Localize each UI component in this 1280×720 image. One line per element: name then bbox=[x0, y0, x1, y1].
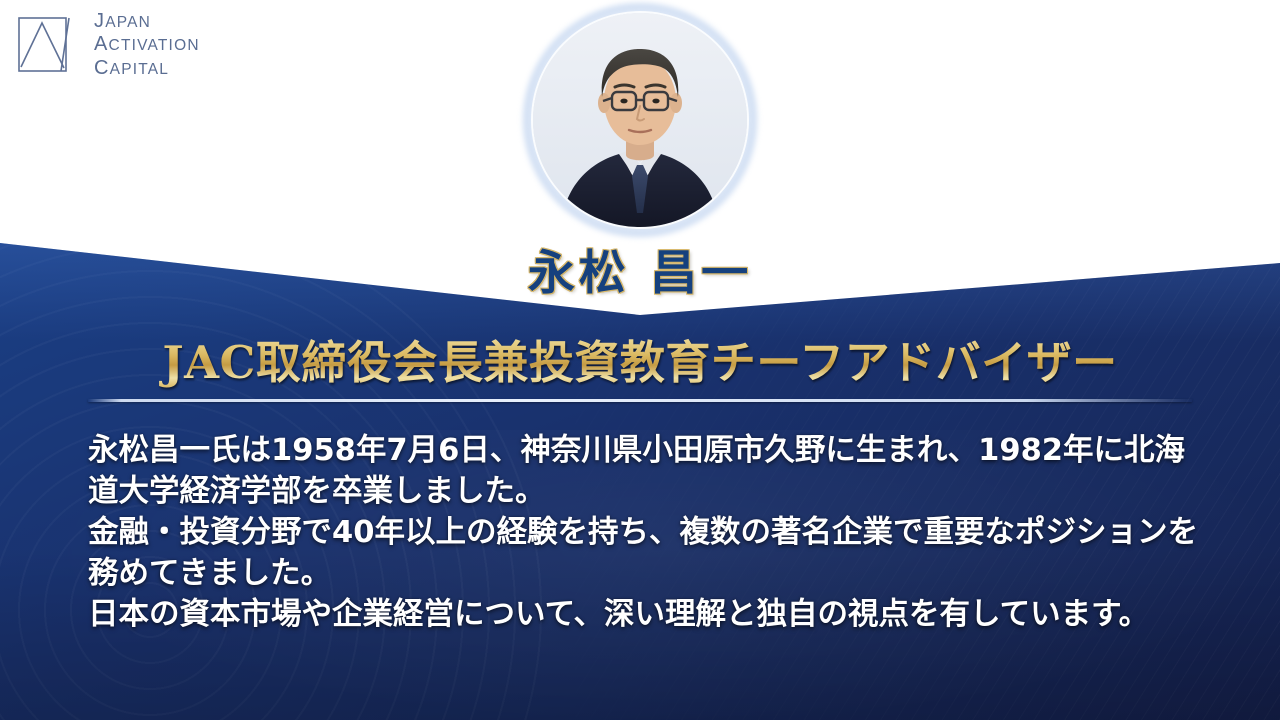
bio-paragraph: 日本の資本市場や企業経営について、深い理解と独自の視点を有しています。 bbox=[88, 594, 1198, 635]
person-name: 永松 昌一 bbox=[0, 234, 1280, 303]
slide-root: JAPAN ACTIVATION CAPITAL bbox=[0, 0, 1280, 720]
portrait-disc bbox=[533, 13, 747, 227]
portrait bbox=[533, 13, 747, 227]
brand-line-2: ACTIVATION bbox=[94, 33, 200, 55]
brand-line-3: CAPITAL bbox=[94, 57, 200, 79]
portrait-photo-icon bbox=[533, 13, 747, 227]
jac-triangle-mark-icon bbox=[14, 11, 82, 79]
section-divider bbox=[88, 399, 1192, 402]
bio-paragraph: 金融・投資分野で40年以上の経験を持ち、複数の著名企業で重要なポジションを務めて… bbox=[88, 512, 1198, 594]
bio-paragraph: 永松昌一氏は1958年7月6日、神奈川県小田原市久野に生まれ、1982年に北海道… bbox=[88, 430, 1198, 512]
brand-wordmark: JAPAN ACTIVATION CAPITAL bbox=[94, 10, 200, 79]
person-title: JAC取締役会長兼投資教育チーフアドバイザー bbox=[0, 326, 1280, 391]
bio-text: 永松昌一氏は1958年7月6日、神奈川県小田原市久野に生まれ、1982年に北海道… bbox=[88, 430, 1198, 635]
brand-line-1: JAPAN bbox=[94, 10, 200, 32]
brand-logo[interactable]: JAPAN ACTIVATION CAPITAL bbox=[14, 10, 200, 79]
